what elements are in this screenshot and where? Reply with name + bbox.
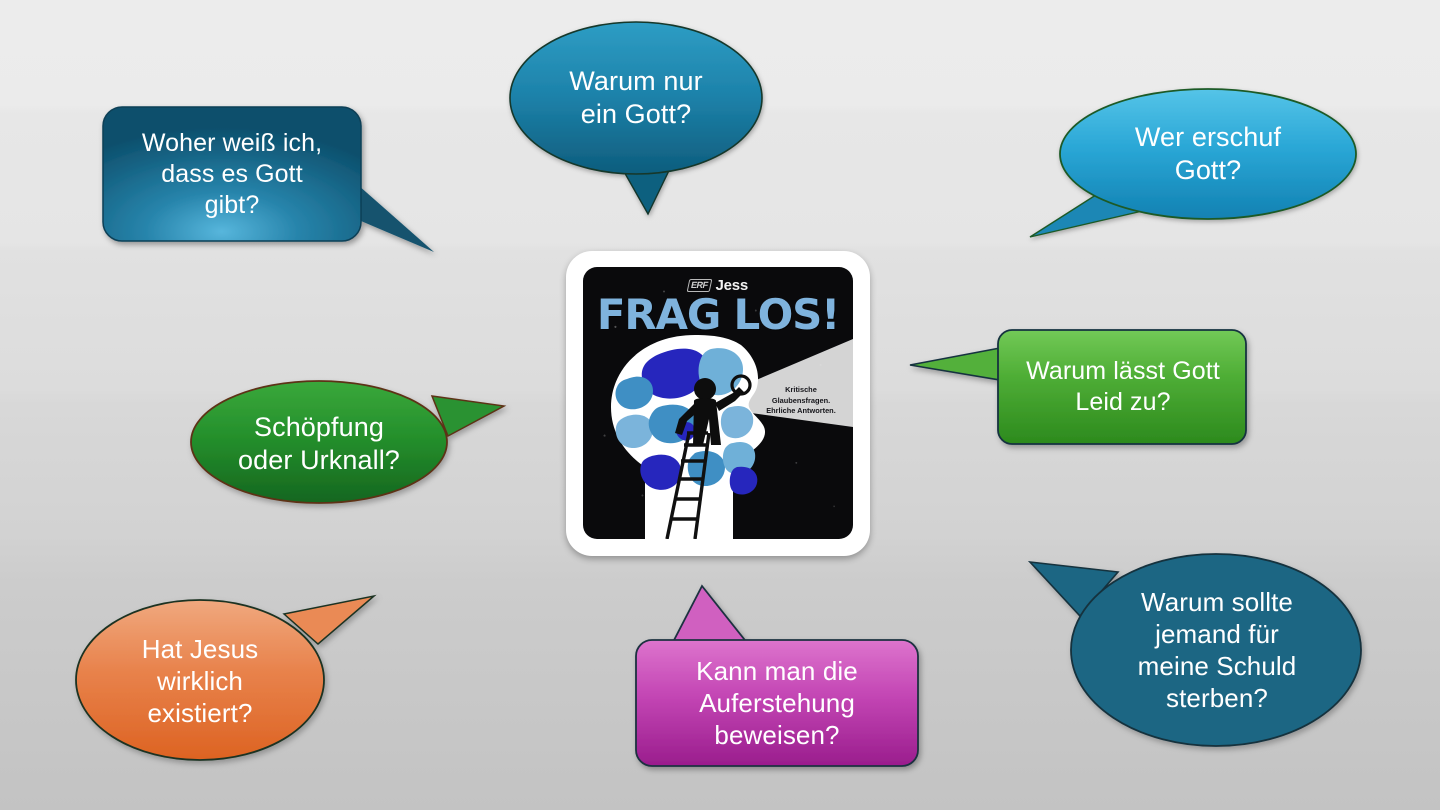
bubble-shape-woher-weiss-ich [96, 100, 446, 260]
bubble-shape-schoepfung-oder-urknall [186, 374, 516, 524]
bubble-shape-hat-jesus-wirklich-existiert [62, 582, 392, 772]
speech-bubble-schoepfung-oder-urknall[interactable]: Schöpfung oder Urknall? [186, 374, 516, 524]
slide-canvas: Woher weiß ich, dass es Gott gibt? Warum… [0, 0, 1440, 810]
cover-title: FRAG LOS! [583, 290, 853, 339]
cover-artwork: ERF Jess FRAG LOS! Kritische Glaubensfra… [583, 267, 853, 539]
podcast-cover[interactable]: ERF Jess FRAG LOS! Kritische Glaubensfra… [566, 251, 870, 556]
bubble-shape-kann-man-die-auferstehung-beweisen [628, 582, 928, 772]
speech-bubble-warum-nur-ein-gott[interactable]: Warum nur ein Gott? [496, 14, 786, 234]
speech-bubble-hat-jesus-wirklich-existiert[interactable]: Hat Jesus wirklich existiert? [62, 582, 392, 772]
bubble-shape-warum-nur-ein-gott [496, 14, 786, 234]
speech-bubble-kann-man-die-auferstehung-beweisen[interactable]: Kann man die Auferstehung beweisen? [628, 582, 928, 772]
speech-bubble-wer-erschuf-gott[interactable]: Wer erschuf Gott? [1018, 82, 1378, 262]
speech-bubble-warum-sollte-jemand-fuer-meine-schuld-sterben[interactable]: Warum sollte jemand für meine Schuld ste… [1022, 542, 1382, 772]
cover-tagline: Kritische Glaubensfragen. Ehrliche Antwo… [757, 385, 845, 417]
speech-bubble-woher-weiss-ich[interactable]: Woher weiß ich, dass es Gott gibt? [96, 100, 446, 260]
bubble-shape-warum-sollte-jemand-fuer-meine-schuld-sterben [1022, 542, 1382, 772]
bubble-shape-warum-laesst-gott-leid-zu [900, 322, 1260, 452]
bubble-shape-wer-erschuf-gott [1018, 82, 1378, 262]
speech-bubble-warum-laesst-gott-leid-zu[interactable]: Warum lässt Gott Leid zu? [900, 322, 1260, 452]
